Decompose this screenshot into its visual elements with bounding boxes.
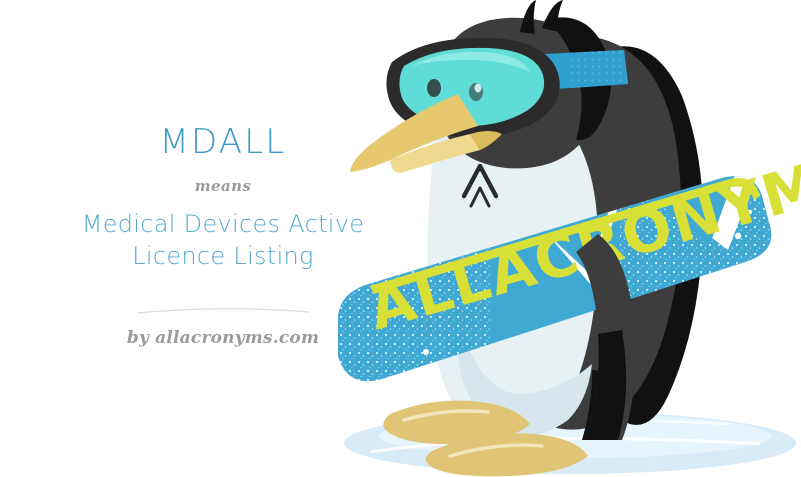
means-connector-label: means <box>195 177 252 195</box>
acronym-card: MDALL means Medical Devices Active Licen… <box>0 0 801 477</box>
acronym-title: MDALL <box>159 123 286 162</box>
snowboarding-penguin-illustration: ALLACRONYMS <box>330 0 801 477</box>
divider-rule <box>136 302 311 312</box>
source-attribution: by allacronyms.com <box>127 328 319 348</box>
